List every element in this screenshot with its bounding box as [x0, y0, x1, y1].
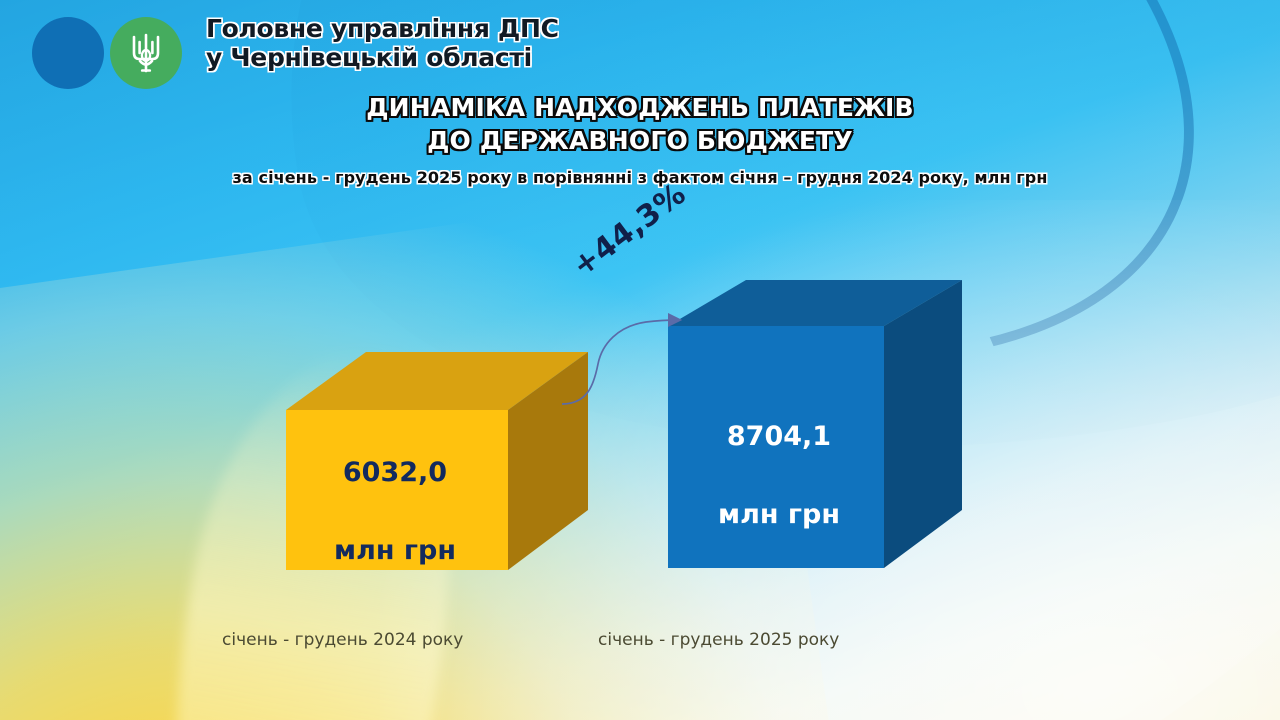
ukraine-trident-icon	[110, 17, 182, 89]
header-logo-group: Головне управління ДПС у Чернівецькій об…	[18, 8, 578, 90]
organization-name: Головне управління ДПС у Чернівецькій об…	[206, 14, 559, 72]
page-subtitle: за січень - грудень 2025 року в порівнян…	[0, 168, 1280, 187]
category-label-2025: січень - грудень 2025 року	[598, 630, 839, 650]
bar-cube-2024[interactable]	[276, 350, 596, 580]
category-label-2024: січень - грудень 2024 року	[222, 630, 463, 650]
blue-circle-icon	[32, 17, 104, 89]
curved-growth-arrow-icon	[560, 300, 720, 410]
slide-canvas: Головне управління ДПС у Чернівецькій об…	[0, 0, 1280, 720]
page-title: ДИНАМІКА НАДХОДЖЕНЬ ПЛАТЕЖІВ ДО ДЕРЖАВНО…	[0, 92, 1280, 157]
